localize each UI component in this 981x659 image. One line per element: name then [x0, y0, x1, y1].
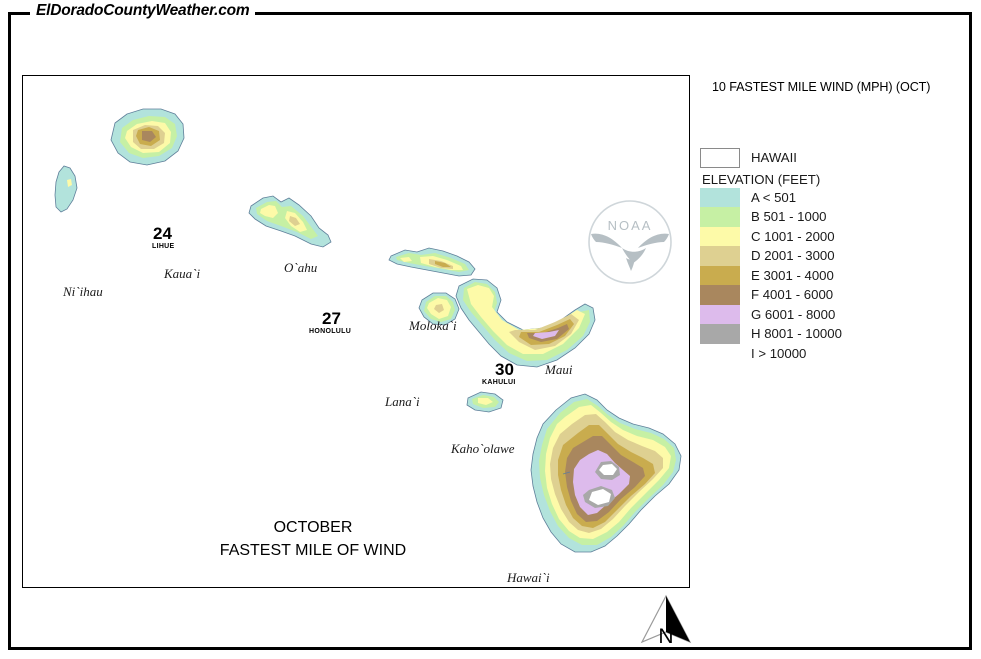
station-name-honolulu: HONOLULU	[309, 328, 351, 335]
legend-swatch-g	[700, 305, 740, 325]
noaa-logo: NOAA	[586, 198, 674, 286]
island-label-lanai: Lana`i	[385, 394, 420, 410]
legend-swatch-i	[700, 344, 740, 364]
legend-swatch-d	[700, 246, 740, 266]
legend-row-b: B 501 - 1000	[700, 207, 965, 227]
legend-elevation-heading: ELEVATION (FEET)	[702, 172, 965, 187]
legend-label-h: H 8001 - 10000	[751, 326, 842, 341]
map-caption: OCTOBER FASTEST MILE OF WIND	[173, 516, 453, 562]
island-label-oahu: O`ahu	[284, 260, 317, 276]
station-name-lihue: LIHUE	[152, 243, 175, 250]
legend-row-i: I > 10000	[700, 344, 965, 364]
legend-row-hawaii: HAWAII	[700, 148, 965, 168]
legend-swatch-a	[700, 188, 740, 208]
legend-swatch-b	[700, 207, 740, 227]
legend-row-h: H 8001 - 10000	[700, 324, 965, 344]
legend-label-c: C 1001 - 2000	[751, 229, 835, 244]
island-label-hawaii: Hawai`i	[507, 570, 550, 586]
island-kahoolawe	[467, 392, 503, 412]
station-value-honolulu: 27	[322, 309, 341, 329]
station-value-lihue: 24	[153, 224, 172, 244]
hawaii-islands-map: .cA { fill:#b2e3dc; } .cB { fill:#c6f0a4…	[23, 76, 688, 586]
legend-row-d: D 2001 - 3000	[700, 246, 965, 266]
noaa-logo-text: NOAA	[608, 218, 653, 233]
map-caption-line1: OCTOBER	[173, 516, 453, 539]
map-panel[interactable]: .cA { fill:#b2e3dc; } .cB { fill:#c6f0a4…	[22, 75, 690, 588]
legend-label-hawaii: HAWAII	[751, 150, 797, 165]
legend-body: HAWAII ELEVATION (FEET) A < 501 B 501 - …	[700, 148, 965, 363]
legend-label-f: F 4001 - 6000	[751, 287, 833, 302]
island-label-molokai: Moloka`i	[409, 318, 457, 334]
legend-swatch-e	[700, 266, 740, 286]
island-oahu	[249, 196, 331, 247]
legend-label-a: A < 501	[751, 190, 796, 205]
site-title: ElDoradoCountyWeather.com	[30, 2, 255, 20]
island-label-kauai: Kaua`i	[164, 266, 200, 282]
island-maui	[456, 279, 595, 367]
island-hawaii-big-island	[531, 394, 681, 552]
legend-label-i: I > 10000	[751, 346, 806, 361]
legend-swatch-f	[700, 285, 740, 305]
island-label-niihau: Ni`ihau	[63, 284, 103, 300]
legend-row-a: A < 501	[700, 188, 965, 208]
legend-label-d: D 2001 - 3000	[751, 248, 835, 263]
legend-swatch-hawaii	[700, 148, 740, 168]
legend-label-g: G 6001 - 8000	[751, 307, 835, 322]
island-label-maui: Maui	[545, 362, 572, 378]
north-arrow-label: N	[636, 625, 696, 649]
legend-title: 10 FASTEST MILE WIND (MPH) (OCT)	[712, 80, 965, 94]
legend-label-b: B 501 - 1000	[751, 209, 827, 224]
island-molokai	[389, 248, 475, 276]
legend-panel: 10 FASTEST MILE WIND (MPH) (OCT) HAWAII …	[700, 80, 965, 363]
station-name-kahului: KAHULUI	[482, 379, 516, 386]
map-caption-line2: FASTEST MILE OF WIND	[173, 539, 453, 562]
legend-label-e: E 3001 - 4000	[751, 268, 834, 283]
legend-swatch-c	[700, 227, 740, 247]
legend-swatch-h	[700, 324, 740, 344]
island-niihau	[55, 166, 77, 212]
island-kauai	[111, 109, 184, 165]
legend-row-e: E 3001 - 4000	[700, 266, 965, 286]
island-label-kahoolawe: Kaho`olawe	[451, 441, 515, 457]
legend-row-f: F 4001 - 6000	[700, 285, 965, 305]
legend-row-g: G 6001 - 8000	[700, 305, 965, 325]
station-value-kahului: 30	[495, 360, 514, 380]
legend-row-c: C 1001 - 2000	[700, 227, 965, 247]
